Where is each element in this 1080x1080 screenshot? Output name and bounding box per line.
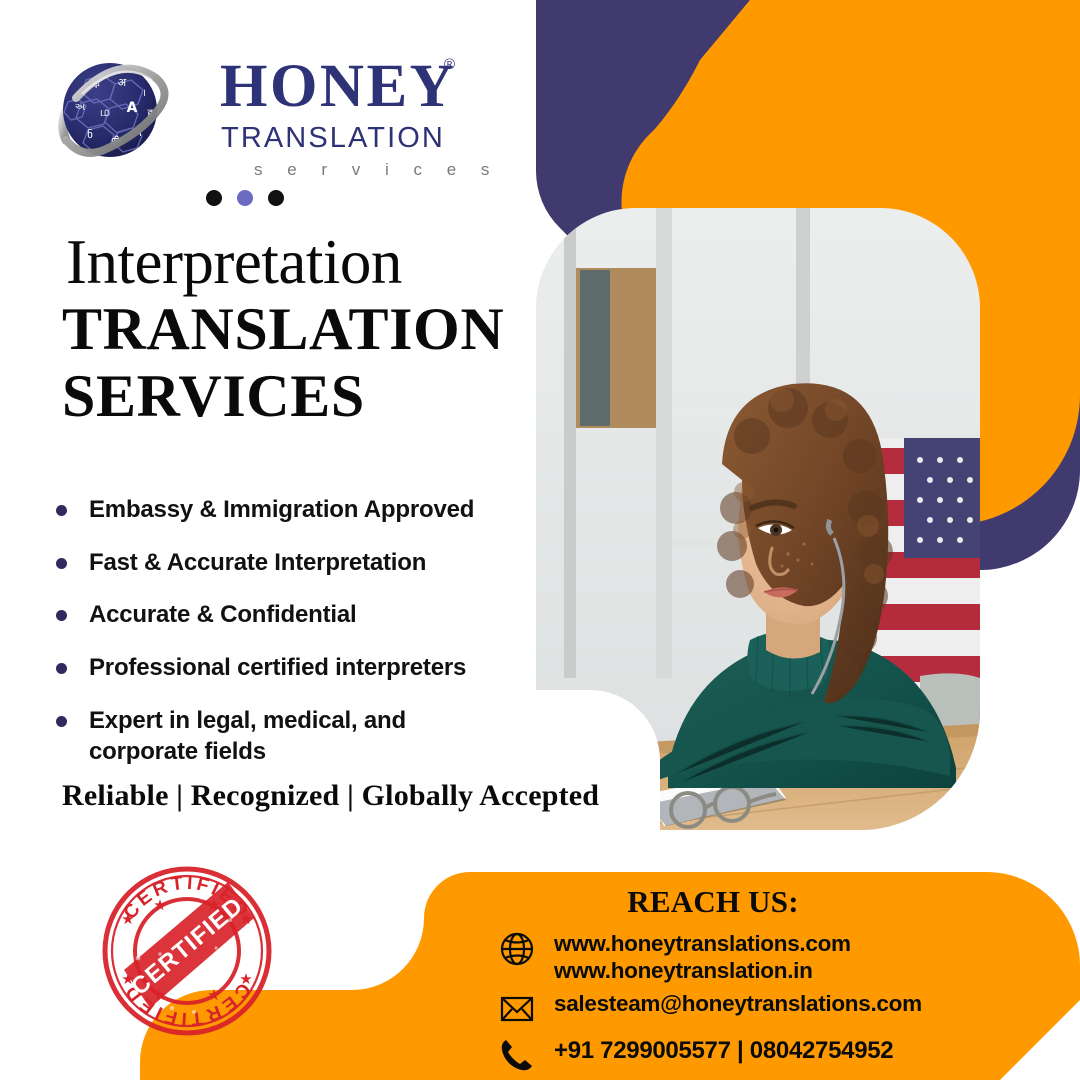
contact-panel: REACH US: www.honeytranslations.com www.… [420,872,1080,1080]
bullet-dot-icon [56,663,67,674]
headline-bold-line-2: SERVICES [62,363,532,430]
bullet-dot-icon [56,505,67,516]
website-1[interactable]: www.honeytranslations.com [554,930,851,957]
list-item: Professional certified interpreters [56,652,526,684]
logo-name: HONEY [220,56,456,117]
page-title: Interpretation TRANSLATION SERVICES [62,230,532,431]
certified-stamp-icon: CERTIFIED CERTIFIED ★★ ★★ ★★ ★★ CERTIFIE… [98,862,276,1040]
svg-text:ம: ம [100,105,110,120]
svg-text:A: A [127,100,138,116]
interpreter-photo [536,208,980,830]
feature-text: Expert in legal, medical, and corporate … [89,705,449,768]
tagline: Reliable | Recognized | Globally Accepte… [62,779,599,813]
poster-canvas: ক अ । અ ம A ह ნ ക । HONEY ® TRANSLATION … [0,0,1080,1080]
dot-1 [206,190,222,206]
svg-text:અ: અ [75,102,86,113]
svg-text:★: ★ [239,970,252,988]
list-item: Accurate & Confidential [56,599,526,631]
dot-separator [206,190,284,206]
list-item: Expert in legal, medical, and corporate … [56,705,526,768]
contact-row-phone[interactable]: +91 7299005577 | 08042754952 [498,1036,893,1074]
dot-2 [237,190,253,206]
contact-row-website[interactable]: www.honeytranslations.com www.honeytrans… [498,930,851,985]
list-item: Fast & Accurate Interpretation [56,547,526,579]
feature-text: Embassy & Immigration Approved [89,494,474,526]
feature-list: Embassy & Immigration Approved Fast & Ac… [56,494,526,789]
dot-3 [268,190,284,206]
website-2[interactable]: www.honeytranslation.in [554,957,851,984]
globe-icon [498,930,536,968]
bullet-dot-icon [56,610,67,621]
feature-text: Fast & Accurate Interpretation [89,547,426,579]
feature-text: Professional certified interpreters [89,652,466,684]
bullet-dot-icon [56,558,67,569]
logo-wordmark: HONEY ® TRANSLATION s e r v i c e s [172,48,472,178]
bullet-dot-icon [56,716,67,727]
logo-line-services: s e r v i c e s [254,161,499,178]
email-address[interactable]: salesteam@honeytranslations.com [554,990,922,1017]
svg-text:ნ: ნ [87,128,93,141]
contact-row-email[interactable]: salesteam@honeytranslations.com [498,990,922,1028]
list-item: Embassy & Immigration Approved [56,494,526,526]
svg-text:।: । [142,88,146,99]
logo-line-translation: TRANSLATION [221,124,445,153]
reach-us-title: REACH US: [420,884,1006,920]
svg-text:★: ★ [153,896,166,914]
headline-script: Interpretation [66,230,532,294]
svg-text:★: ★ [121,910,134,928]
svg-text:अ: अ [118,76,127,89]
headline-bold-line-1: TRANSLATION [62,296,532,363]
phone-icon [498,1036,536,1074]
registered-mark-icon: ® [444,56,455,73]
envelope-icon [498,990,536,1028]
globe-languages-icon: ক अ । અ ம A ह ნ ക । [52,54,172,172]
phone-numbers[interactable]: +91 7299005577 | 08042754952 [554,1036,893,1065]
svg-text:★: ★ [207,986,220,1004]
feature-text: Accurate & Confidential [89,599,356,631]
